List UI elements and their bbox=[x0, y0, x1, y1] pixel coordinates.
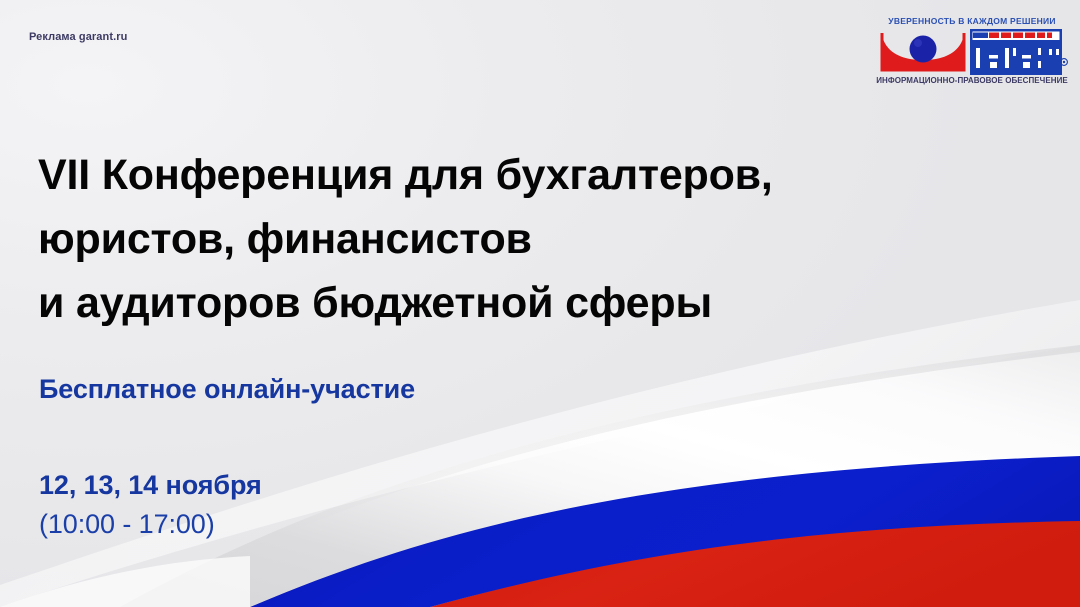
garant-emblem-icon bbox=[879, 30, 967, 74]
advertisement-banner[interactable]: Реклама garant.ru УВЕРЕННОСТЬ В КАЖДОМ Р… bbox=[0, 0, 1080, 607]
event-dates: 12, 13, 14 ноября bbox=[39, 466, 262, 504]
garant-wordmark-icon bbox=[970, 29, 1068, 75]
garant-logo[interactable]: УВЕРЕННОСТЬ В КАЖДОМ РЕШЕНИИ bbox=[872, 17, 1072, 86]
event-time: (10:00 - 17:00) bbox=[39, 504, 262, 544]
headline-line-1: VII Конференция для бухгалтеров, bbox=[38, 143, 958, 207]
schedule-block: 12, 13, 14 ноября (10:00 - 17:00) bbox=[39, 466, 262, 544]
subtitle-free-online-participation: Бесплатное онлайн-участие bbox=[39, 374, 415, 405]
page-title: VII Конференция для бухгалтеров, юристов… bbox=[38, 143, 958, 335]
logo-marks bbox=[872, 29, 1072, 75]
flag-fold-highlight bbox=[0, 300, 1080, 607]
flag-ribbon-tail bbox=[0, 556, 250, 607]
logo-tagline-top: УВЕРЕННОСТЬ В КАЖДОМ РЕШЕНИИ bbox=[872, 17, 1072, 26]
headline-line-3: и аудиторов бюджетной сферы bbox=[38, 271, 958, 335]
headline-line-2: юристов, финансистов bbox=[38, 207, 958, 271]
flag-band-red bbox=[430, 520, 1080, 607]
logo-tagline-bottom: ИНФОРМАЦИОННО-ПРАВОВОЕ ОБЕСПЕЧЕНИЕ bbox=[872, 77, 1072, 86]
flag-band-blue bbox=[250, 455, 1080, 607]
advertiser-note: Реклама garant.ru bbox=[29, 31, 127, 43]
